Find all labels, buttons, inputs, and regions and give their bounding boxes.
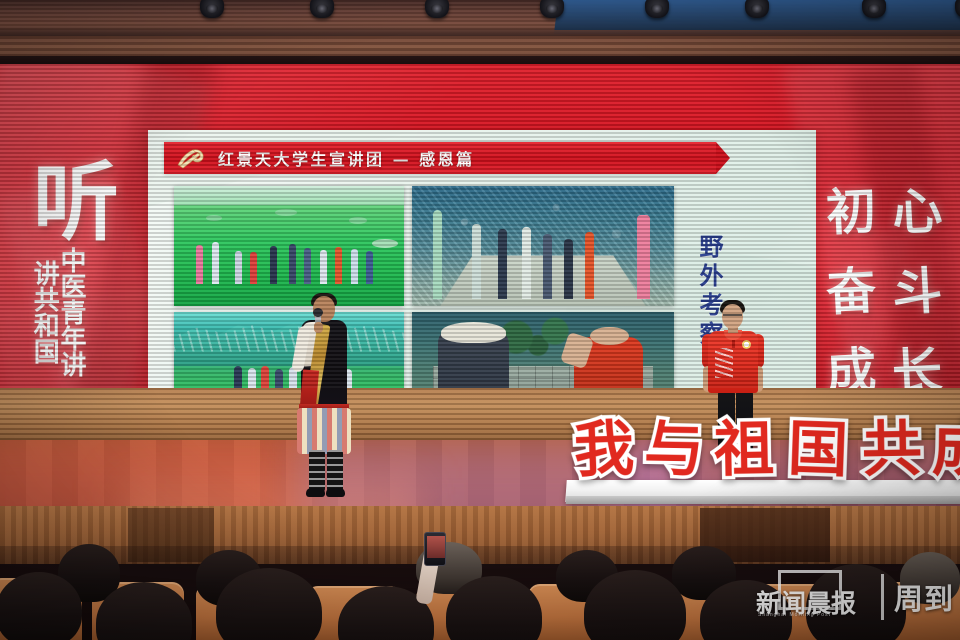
speaker-boot — [326, 488, 345, 497]
student-shirt-logo — [742, 340, 751, 349]
speaker-boot — [306, 488, 325, 497]
photo-green-meadow-group — [174, 186, 404, 306]
slogan-char: 我 — [573, 419, 635, 481]
stage-light-icon — [745, 0, 769, 18]
led-right-char: 心 — [890, 171, 944, 246]
photo-white-hat — [441, 322, 507, 343]
led-right-char: 奋 — [824, 251, 878, 326]
stage-light-icon — [425, 0, 449, 18]
photo-sky — [174, 186, 404, 205]
photo-mountain-group-portrait — [174, 312, 404, 388]
watermark-sub-brand: 周到 — [894, 576, 954, 618]
photo-figure — [320, 250, 327, 284]
photo-figure — [335, 247, 342, 285]
stage-light-icon — [862, 0, 886, 18]
photo-rocky-trail-hikers — [412, 186, 674, 306]
student-shirt-print — [715, 348, 733, 378]
slide-photo-grid — [174, 186, 674, 388]
photo-rock — [349, 217, 367, 224]
photo-figure — [366, 251, 373, 284]
led-right-calligraphy: 初 心 奋 斗 成 长 — [818, 168, 950, 388]
photo-figure — [472, 224, 481, 298]
photo-figure — [522, 227, 531, 299]
prop-base-front — [566, 496, 960, 504]
photo-figure — [250, 252, 257, 284]
led-left-big-char: 听 — [16, 162, 136, 244]
photo-figure — [248, 368, 256, 388]
speaker-embroidered-skirt — [297, 408, 351, 454]
photo-figure — [275, 369, 283, 388]
speaker-leg — [327, 450, 343, 492]
photo-figure — [270, 246, 277, 285]
slogan-char: 共 — [861, 419, 922, 480]
stage-light-icon — [540, 0, 564, 18]
photo-figure — [564, 239, 573, 299]
phone-screen — [427, 536, 445, 558]
led-screen: 听 中医青年讲讲共和国 初 心 奋 斗 成 长 — [0, 64, 960, 388]
led-left-vertical-text: 中医青年讲讲共和国 — [40, 236, 84, 388]
speaker-leg — [309, 450, 325, 492]
photo-figure — [433, 210, 442, 299]
led-right-char: 斗 — [890, 251, 944, 326]
photo-figure — [234, 366, 242, 388]
slogan-char: 成 — [931, 419, 960, 480]
photo-figure — [261, 366, 269, 388]
photo-figure — [289, 244, 296, 285]
photo-figure — [235, 251, 242, 284]
photo-rock — [206, 215, 222, 221]
slogan-char: 祖 — [713, 419, 774, 480]
led-right-char: 长 — [890, 331, 944, 388]
slogan-char: 与 — [643, 419, 704, 480]
speaker-tibetan-costume — [295, 296, 355, 498]
stage-light-icon — [310, 0, 334, 18]
watermark-divider — [881, 574, 884, 620]
led-right-char: 成 — [824, 331, 878, 388]
photo-figure — [304, 248, 311, 284]
photo-figure — [637, 215, 650, 299]
watermark-brand: 新闻晨报 Shanghai Morning Post — [756, 568, 871, 626]
glasses-icon — [723, 314, 742, 318]
photo-figure — [212, 242, 219, 284]
photo-stone-wall-interview — [412, 312, 674, 388]
banner-tail — [716, 142, 730, 174]
speaker-hand — [314, 322, 323, 333]
photo-figure — [585, 232, 594, 299]
slogan-char: 国 — [787, 419, 849, 481]
photo-figure — [543, 234, 552, 299]
photo-figure-group — [192, 229, 385, 284]
photo-rock — [275, 209, 297, 216]
watermark-brand-en: Shanghai Morning Post — [758, 612, 878, 618]
photo-figure — [351, 249, 358, 284]
stage-scene: 听 中医青年讲讲共和国 初 心 奋 斗 成 长 — [0, 0, 960, 640]
stage-light-icon — [645, 0, 669, 18]
photo-figure — [498, 229, 507, 299]
led-right-char: 初 — [824, 171, 878, 246]
watermark: 新闻晨报 Shanghai Morning Post 周到 — [756, 566, 954, 628]
slide-title-banner: 红景天大学生宣讲团 — 感恩篇 — [164, 142, 716, 174]
smartphone-icon — [424, 532, 446, 566]
party-emblem-icon — [174, 145, 208, 171]
slide-title: 红景天大学生宣讲团 — 感恩篇 — [218, 146, 475, 170]
stage-slogan-props: 我 与 祖 国 共 成 — [566, 412, 960, 502]
photo-figure — [196, 245, 203, 285]
stage-light-icon — [200, 0, 224, 18]
